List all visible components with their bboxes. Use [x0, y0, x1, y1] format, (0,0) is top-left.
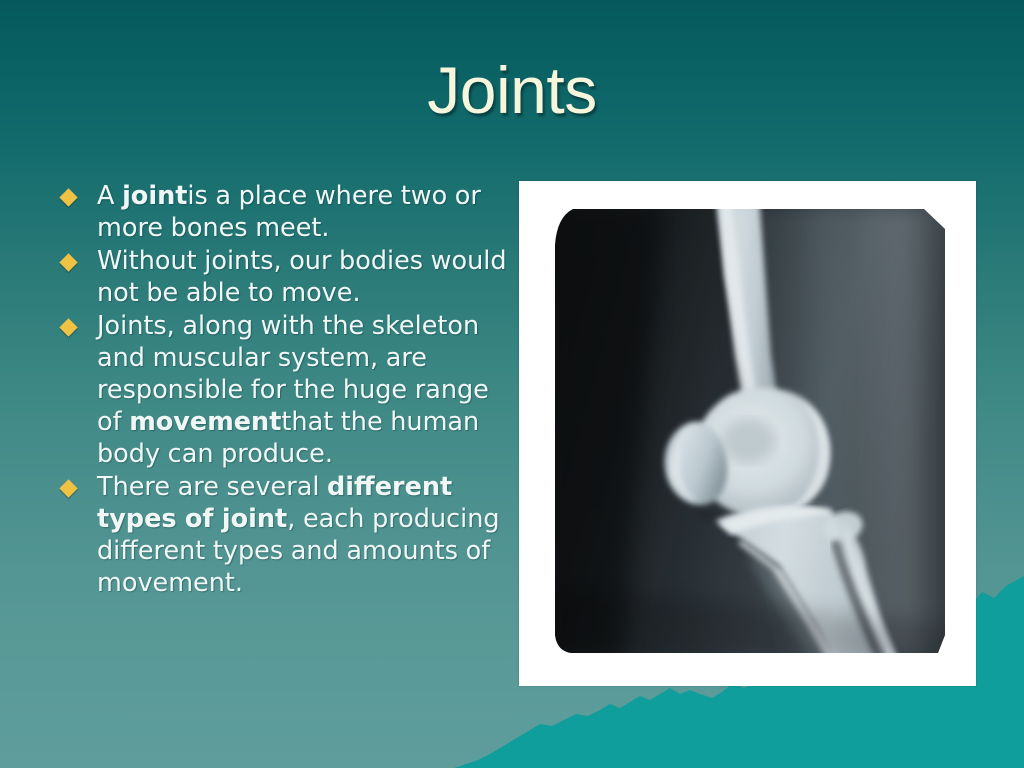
gold-diamond-bullet-icon [59, 253, 77, 271]
gold-diamond-bullet-icon [59, 479, 77, 497]
list-item: There are several different types of joi… [57, 471, 507, 599]
gold-diamond-bullet-icon [59, 188, 77, 206]
bullet-text: Joints, along with the skeleton and musc… [97, 310, 507, 470]
list-item: Joints, along with the skeleton and musc… [57, 310, 507, 470]
xray-photo-frame [519, 181, 976, 686]
gold-diamond-bullet-icon [59, 318, 77, 336]
bullet-text: There are several different types of joi… [97, 471, 507, 599]
presentation-slide: Joints A jointis a place where two or mo… [0, 0, 1024, 768]
list-item: A jointis a place where two or more bone… [57, 180, 507, 244]
bullet-text: Without joints, our bodies would not be … [97, 245, 507, 309]
list-item: Without joints, our bodies would not be … [57, 245, 507, 309]
knee-joint-xray [543, 205, 954, 660]
knee-joint-xray-graphic [543, 205, 954, 660]
slide-title: Joints [0, 57, 1024, 124]
bullet-text: A jointis a place where two or more bone… [97, 180, 507, 244]
slide-body-bullet-list: A jointis a place where two or more bone… [57, 180, 507, 600]
